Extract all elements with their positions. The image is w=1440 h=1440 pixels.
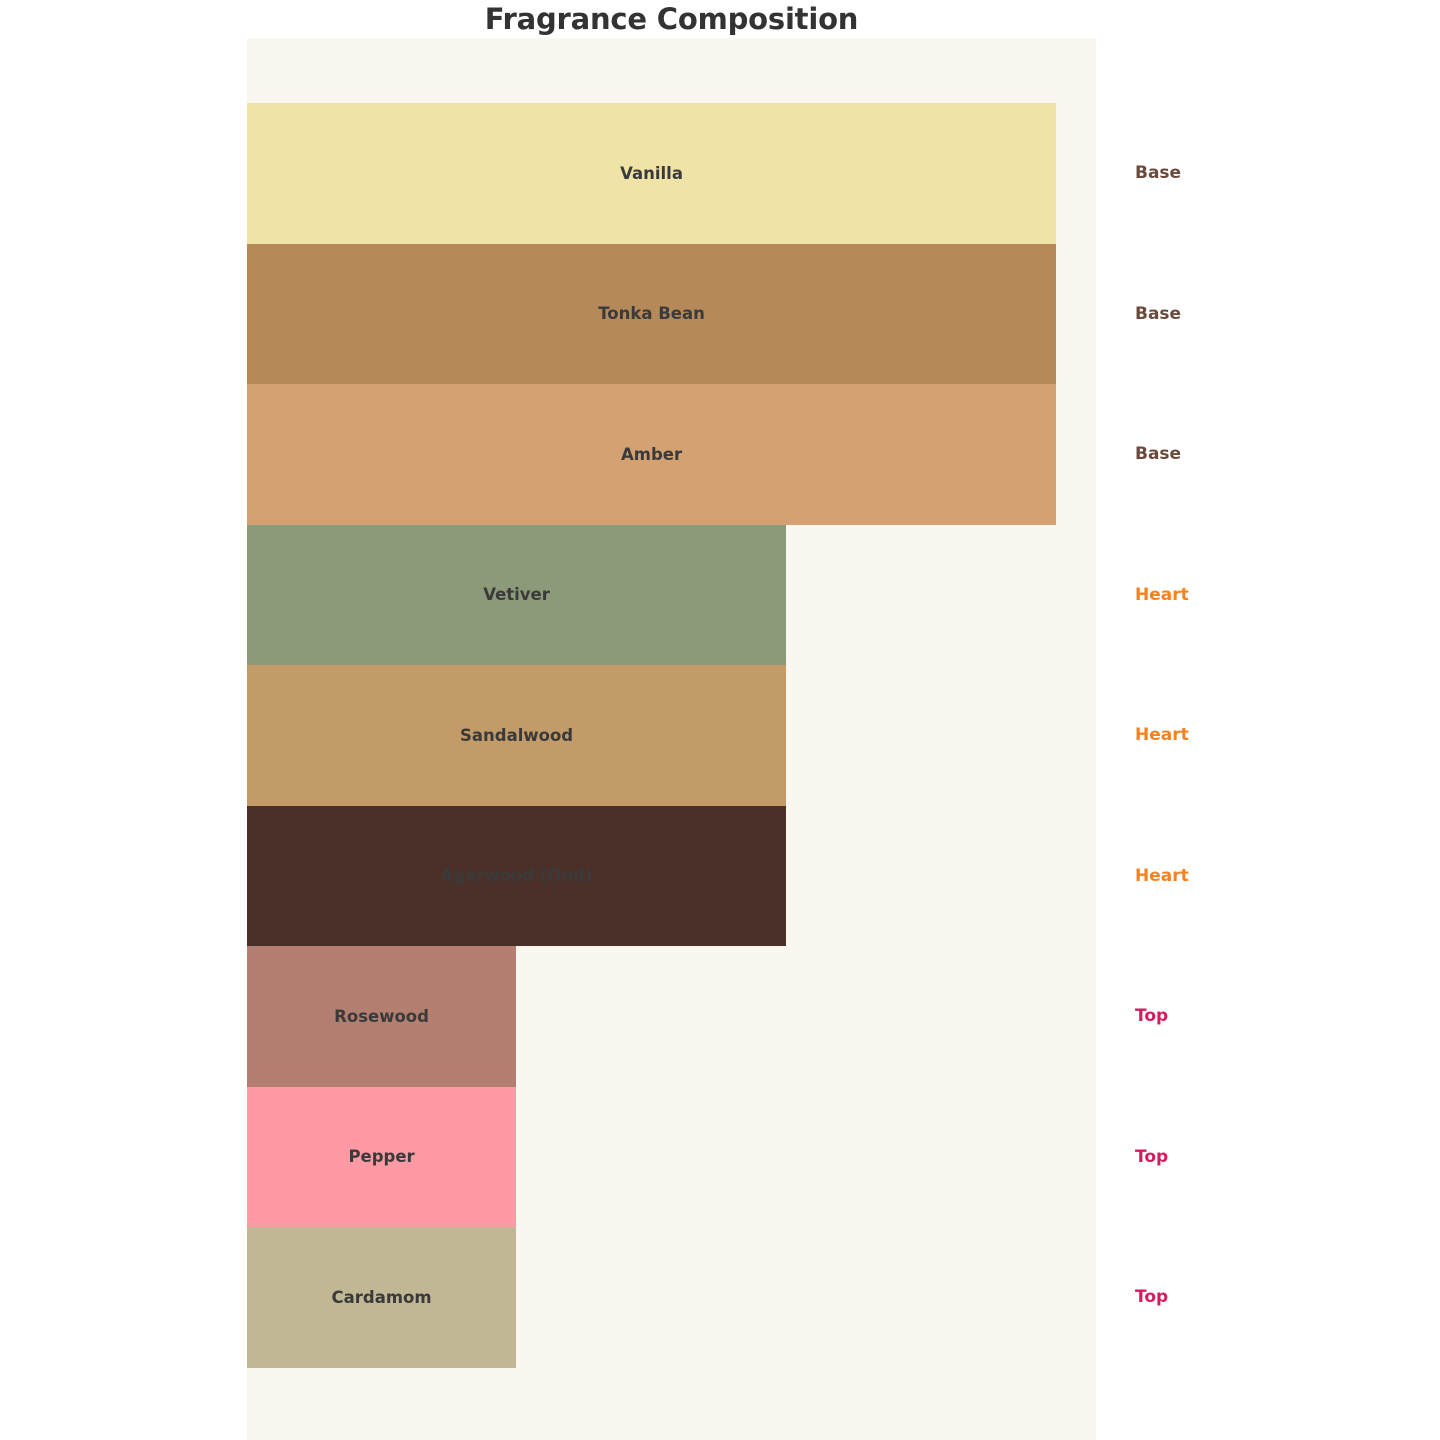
- category-label-heart: Heart: [1135, 866, 1189, 886]
- category-label-top: Top: [1135, 1006, 1168, 1026]
- bar-row: Amber: [247, 384, 1096, 525]
- bar-segment[interactable]: [247, 1227, 516, 1368]
- bar-row: Agarwood (Oud): [247, 806, 1096, 947]
- bar-row: Vetiver: [247, 525, 1096, 666]
- bar-row: Pepper: [247, 1087, 1096, 1228]
- plot-area: VanillaTonka BeanAmberVetiverSandalwoodA…: [247, 38, 1096, 1440]
- bar-segment[interactable]: [247, 665, 786, 806]
- category-label-base: Base: [1135, 304, 1181, 324]
- chart-title: Fragrance Composition: [247, 2, 1096, 36]
- bar-segment[interactable]: [247, 946, 516, 1087]
- bar-segment[interactable]: [247, 1087, 516, 1228]
- bar-segment[interactable]: [247, 806, 786, 947]
- category-label-base: Base: [1135, 163, 1181, 183]
- category-label-heart: Heart: [1135, 585, 1189, 605]
- category-label-top: Top: [1135, 1147, 1168, 1167]
- bar-row: Cardamom: [247, 1227, 1096, 1368]
- bar-row: Tonka Bean: [247, 244, 1096, 385]
- bar-segment[interactable]: [247, 525, 786, 666]
- bar-row: Rosewood: [247, 946, 1096, 1087]
- bar-row: Sandalwood: [247, 665, 1096, 806]
- bar-segment[interactable]: [247, 384, 1056, 525]
- category-label-heart: Heart: [1135, 725, 1189, 745]
- figure-canvas: Fragrance Composition VanillaTonka BeanA…: [0, 0, 1440, 1440]
- bar-row: Vanilla: [247, 103, 1096, 244]
- bar-segment[interactable]: [247, 244, 1056, 385]
- category-label-base: Base: [1135, 444, 1181, 464]
- bar-segment[interactable]: [247, 103, 1056, 244]
- category-label-top: Top: [1135, 1287, 1168, 1307]
